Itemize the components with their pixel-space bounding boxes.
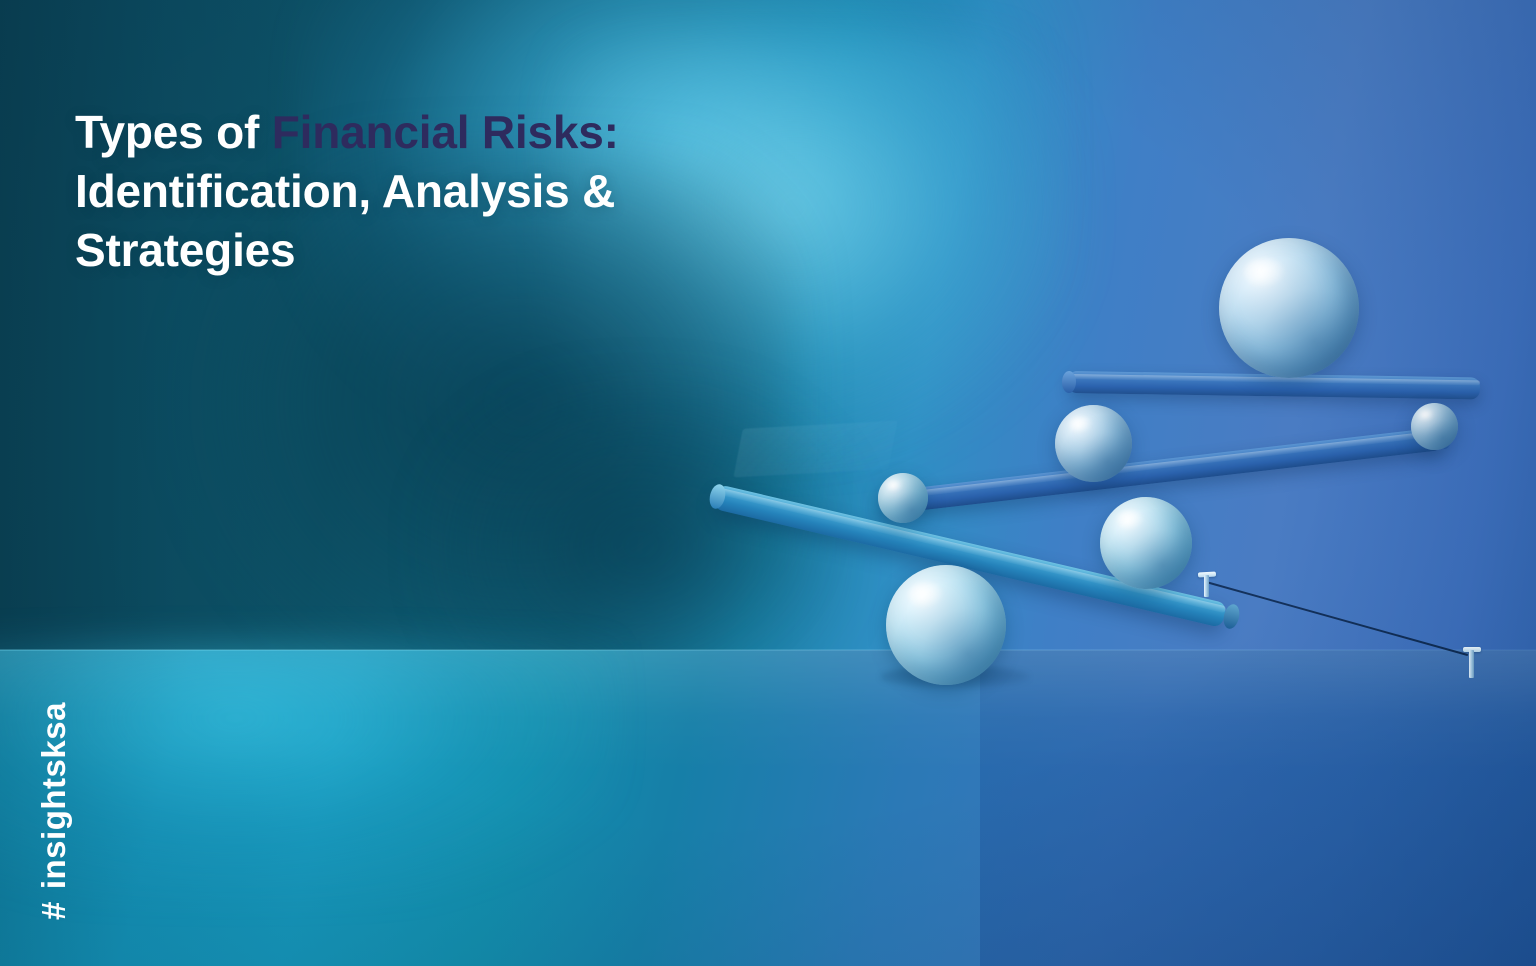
- title-line1-plain: Types of: [75, 106, 272, 158]
- title-line3: Strategies: [75, 224, 295, 276]
- page-title: Types of Financial Risks:Identification,…: [75, 103, 895, 280]
- title-line1-accent: Financial Risks:: [272, 106, 619, 158]
- hashtag-icon: #: [35, 901, 73, 920]
- brand-handle: insightsksa: [35, 702, 73, 889]
- brand-watermark: # insightsksa: [32, 600, 76, 920]
- title-line2: Identification, Analysis &: [75, 165, 615, 217]
- banner-canvas: Types of Financial Risks:Identification,…: [0, 0, 1536, 966]
